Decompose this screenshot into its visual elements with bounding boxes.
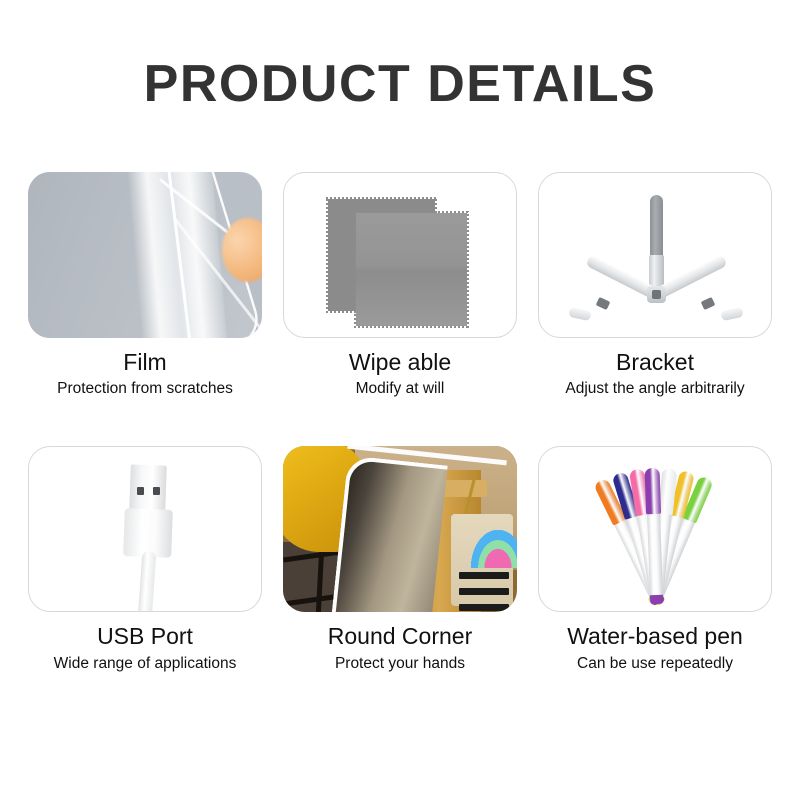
- feature-card-water-based-pen[interactable]: Water-based pen Can be use repeatedly: [538, 446, 772, 672]
- page-title: PRODUCT DETAILS: [0, 56, 800, 113]
- bracket-pad-right: [701, 297, 716, 310]
- tag-stripe: [459, 604, 509, 611]
- card-subtitle: Wide range of applications: [28, 655, 262, 673]
- round-corner-image: [283, 446, 517, 612]
- feature-card-wipe-able[interactable]: Wipe able Modify at will: [283, 172, 517, 398]
- card-subtitle: Can be use repeatedly: [538, 655, 772, 673]
- acrylic-board-rounded-corner: [330, 455, 447, 612]
- card-title: Film: [28, 349, 262, 375]
- microfiber-cloth-front: [356, 213, 467, 326]
- card-subtitle: Adjust the angle arbitrarily: [538, 380, 772, 398]
- card-subtitle: Protection from scratches: [28, 380, 262, 398]
- usb-contact-slot-right: [153, 487, 160, 495]
- card-subtitle: Protect your hands: [283, 655, 517, 673]
- bracket-hinge-screw: [652, 290, 661, 299]
- film-image: [28, 172, 262, 338]
- card-title: Wipe able: [283, 349, 517, 375]
- tag-stripe: [459, 572, 509, 579]
- card-title: USB Port: [28, 623, 262, 649]
- card-title: Round Corner: [283, 623, 517, 649]
- bracket-foot-left: [568, 307, 592, 321]
- bracket-image: [538, 172, 772, 338]
- card-subtitle: Modify at will: [283, 380, 517, 398]
- marker-cap-purple: [644, 468, 661, 514]
- card-title: Water-based pen: [538, 623, 772, 649]
- bracket-post: [650, 195, 663, 261]
- usb-port-image: [28, 446, 262, 612]
- usb-connector-head: [129, 465, 167, 513]
- card-title: Bracket: [538, 349, 772, 375]
- feature-grid: Film Protection from scratches Wipe able…: [28, 172, 772, 673]
- tag-stripe: [459, 588, 509, 595]
- feature-card-round-corner[interactable]: Round Corner Protect your hands: [283, 446, 517, 672]
- feature-card-bracket[interactable]: Bracket Adjust the angle arbitrarily: [538, 172, 772, 398]
- marker-nib-purple: [649, 595, 662, 604]
- product-details-page: PRODUCT DETAILS Film Protection from scr…: [0, 0, 800, 800]
- room-photo: [283, 446, 517, 612]
- feature-card-film[interactable]: Film Protection from scratches: [28, 172, 262, 398]
- usb-cable: [138, 551, 157, 612]
- usb-contact-slot-left: [137, 487, 144, 495]
- wipe-able-image: [283, 172, 517, 338]
- bracket-foot-right: [720, 307, 744, 321]
- bracket-pad-left: [596, 297, 611, 310]
- feature-card-usb-port[interactable]: USB Port Wide range of applications: [28, 446, 262, 672]
- water-based-pen-image: [538, 446, 772, 612]
